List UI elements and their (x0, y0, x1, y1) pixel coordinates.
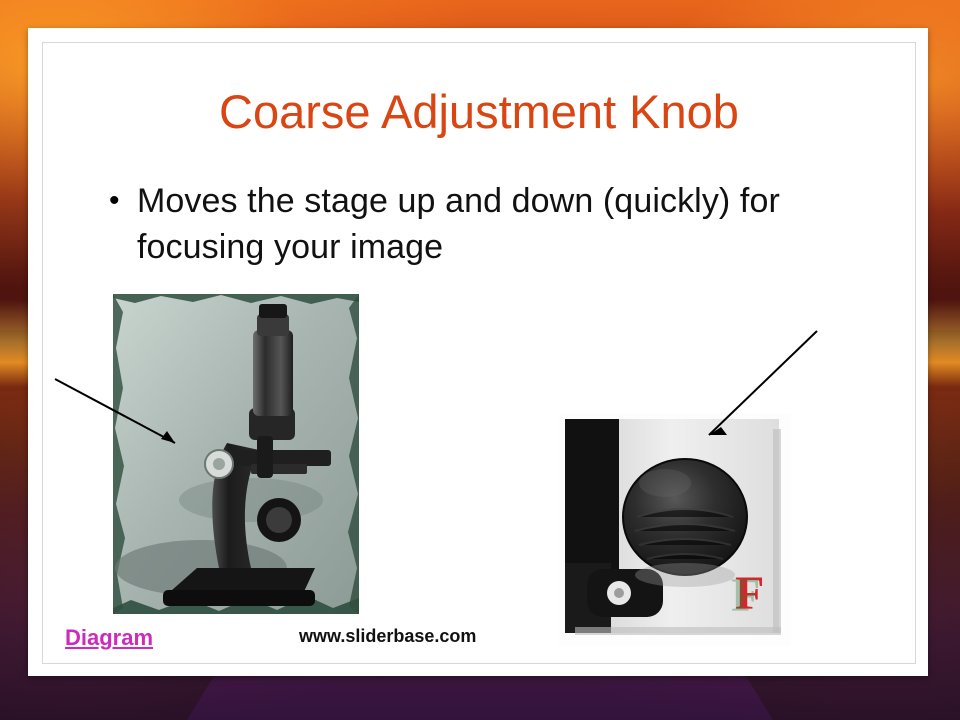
slide-content-inner: Coarse Adjustment Knob • Moves the stage… (42, 42, 916, 664)
bullet-point-icon: • (109, 178, 137, 224)
list-item: • Moves the stage up and down (quickly) … (109, 178, 899, 270)
source-website-label: www.sliderbase.com (299, 626, 476, 647)
slide-content-card: Coarse Adjustment Knob • Moves the stage… (28, 28, 928, 676)
bullet-text: Moves the stage up and down (quickly) fo… (137, 178, 899, 270)
slide-canvas: Coarse Adjustment Knob • Moves the stage… (0, 0, 960, 720)
diagram-link[interactable]: Diagram (65, 625, 153, 651)
bullet-list: • Moves the stage up and down (quickly) … (109, 178, 899, 270)
microscope-photo (101, 268, 373, 643)
svg-text:F: F (731, 569, 760, 622)
coarse-knob-closeup-photo: F F (559, 413, 791, 645)
page-title: Coarse Adjustment Knob (43, 87, 915, 136)
